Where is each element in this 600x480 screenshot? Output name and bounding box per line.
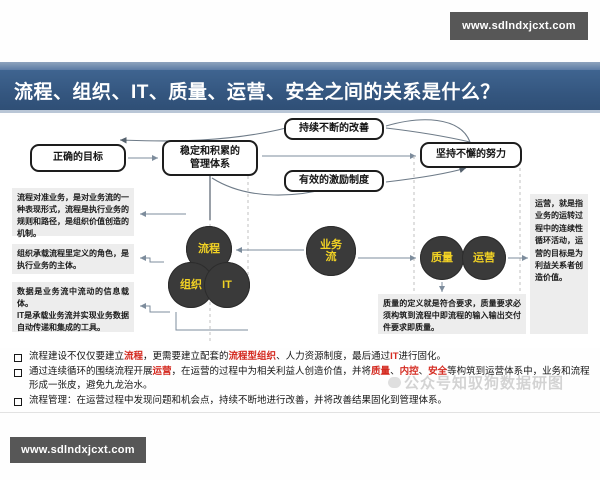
circle-business-flow[interactable]: 业务流: [306, 226, 356, 276]
node-management-system[interactable]: 稳定和积累的管理体系: [162, 140, 258, 176]
note-data-it: 数据是业务流中流动的信息载体。 IT是承载业务流并实现业务数据自动传递和集成的工…: [12, 282, 134, 332]
highlighted-term: 质量: [371, 366, 390, 377]
bullet-text-2: 通过连续循环的围绕流程开展运营，在运营的过程中为相关利益人创造价值，并将质量、内…: [29, 365, 592, 394]
plain-text: 、: [390, 366, 400, 377]
highlighted-term: 流程: [124, 351, 143, 362]
note-quality: 质量的定义就是符合要求，质量要求必须构筑到流程中即流程的输入输出交付件要求即质量…: [378, 294, 526, 334]
plain-text: 进行固化。: [399, 351, 447, 362]
bullet-list: 流程建设不仅仅要建立流程，更需要建立配套的流程型组织、人力资源制度，最后通过IT…: [0, 348, 600, 410]
bullet-item: 流程管理：在运营过程中发现问题和机会点，持续不断地进行改善，并将改善结果固化到管…: [8, 394, 592, 409]
plain-text: ，在运营的过程中为相关利益人创造价值，并将: [172, 366, 372, 377]
watermark-top-url: www.sdlndxjcxt.com: [450, 12, 588, 40]
node-management-system-label: 稳定和积累的管理体系: [180, 145, 240, 172]
title-bar: 流程、组织、IT、质量、运营、安全之间的关系是什么？: [0, 70, 600, 110]
note-operation: 运营，就是指业务的运转过程中的连续性循环活动，运营的目标是为利益关系者创造价值。: [530, 194, 588, 334]
highlighted-term: IT: [390, 351, 398, 362]
circle-quality[interactable]: 质量: [420, 236, 464, 280]
note-organization: 组织承载流程里定义的角色，是执行业务的主体。: [12, 244, 134, 274]
plain-text: 、人力资源制度，最后通过: [276, 351, 390, 362]
bullet-square-icon: [14, 369, 22, 377]
slide-canvas: www.sdlndxjcxt.com 流程、组织、IT、质量、运营、安全之间的关…: [0, 0, 600, 480]
plain-text: 、: [419, 366, 429, 377]
bullet-item: 通过连续循环的围绕流程开展运营，在运营的过程中为相关利益人创造价值，并将质量、内…: [8, 365, 592, 394]
node-incentive-system[interactable]: 有效的激励制度: [284, 170, 384, 192]
title-underline: [0, 110, 600, 113]
page-title: 流程、组织、IT、质量、运营、安全之间的关系是什么？: [0, 77, 500, 104]
note-data-line1: 数据是业务流中流动的信息载体。: [17, 287, 129, 308]
plain-text: 流程建设不仅仅要建立: [29, 351, 124, 362]
note-data-line2: IT是承载业务流并实现业务数据自动传递和集成的工具。: [17, 311, 129, 332]
plain-text: ，更需要建立配套的: [143, 351, 229, 362]
bullet-text-3: 流程管理：在运营过程中发现问题和机会点，持续不断地进行改善，并将改善结果固化到管…: [29, 394, 592, 409]
note-process: 流程对准业务，是对业务流的一种表现形式，流程是执行业务的规则和路径，是组织价值创…: [12, 188, 134, 236]
bullet-text-1: 流程建设不仅仅要建立流程，更需要建立配套的流程型组织、人力资源制度，最后通过IT…: [29, 350, 592, 365]
highlighted-term: 运营: [153, 366, 172, 377]
circle-business-flow-label: 业务流: [320, 239, 342, 264]
watermark-bottom-url: www.sdlndxjcxt.com: [10, 437, 146, 463]
title-accent-strip: [0, 62, 600, 70]
highlighted-term: 流程型组织: [229, 351, 277, 362]
circle-it[interactable]: IT: [204, 262, 250, 308]
footer-divider: [0, 412, 600, 413]
plain-text: 通过连续循环的围绕流程开展: [29, 366, 153, 377]
plain-text: 流程管理：在运营过程中发现问题和机会点，持续不断地进行改善，并将改善结果固化到管…: [29, 395, 447, 406]
bullet-square-icon: [14, 398, 22, 406]
bullet-item: 流程建设不仅仅要建立流程，更需要建立配套的流程型组织、人力资源制度，最后通过IT…: [8, 350, 592, 365]
highlighted-term: 安全: [428, 366, 447, 377]
circle-operation[interactable]: 运营: [462, 236, 506, 280]
node-continuous-improvement[interactable]: 持续不断的改善: [284, 118, 384, 140]
bullet-square-icon: [14, 354, 22, 362]
node-correct-goal[interactable]: 正确的目标: [30, 144, 126, 172]
highlighted-term: 内控: [400, 366, 419, 377]
node-persistent-effort[interactable]: 坚持不懈的努力: [420, 142, 522, 168]
relationship-diagram: 正确的目标 稳定和积累的管理体系 持续不断的改善 有效的激励制度 坚持不懈的努力…: [0, 116, 600, 348]
